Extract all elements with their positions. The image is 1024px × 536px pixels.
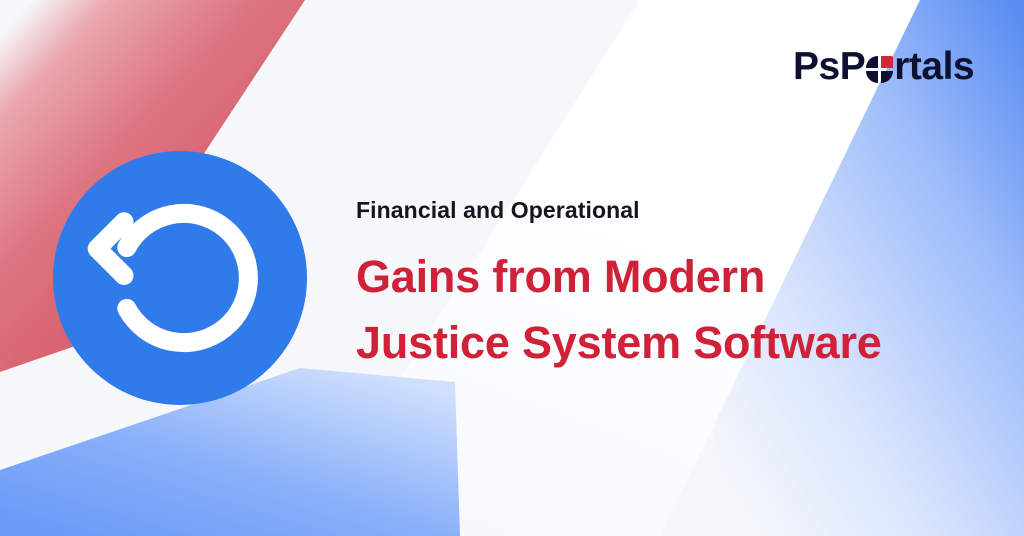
eyebrow-text: Financial and Operational [356,198,882,223]
logo-text-after: rtals [894,47,974,86]
restore-undo-glyph [85,183,275,373]
quartered-circle-icon [866,56,893,83]
logo-text-before: PsP [793,47,865,86]
headline-line-2: Justice System Software [356,310,882,375]
brand-logo[interactable]: PsP rtals [793,47,974,86]
promo-banner: PsP rtals Financial and Operational Gain… [0,0,1024,536]
restore-undo-icon [53,151,307,405]
headline-block: Financial and Operational Gains from Mod… [356,198,882,375]
page-title: Gains from Modern Justice System Softwar… [356,244,882,375]
headline-line-1: Gains from Modern [356,244,882,309]
